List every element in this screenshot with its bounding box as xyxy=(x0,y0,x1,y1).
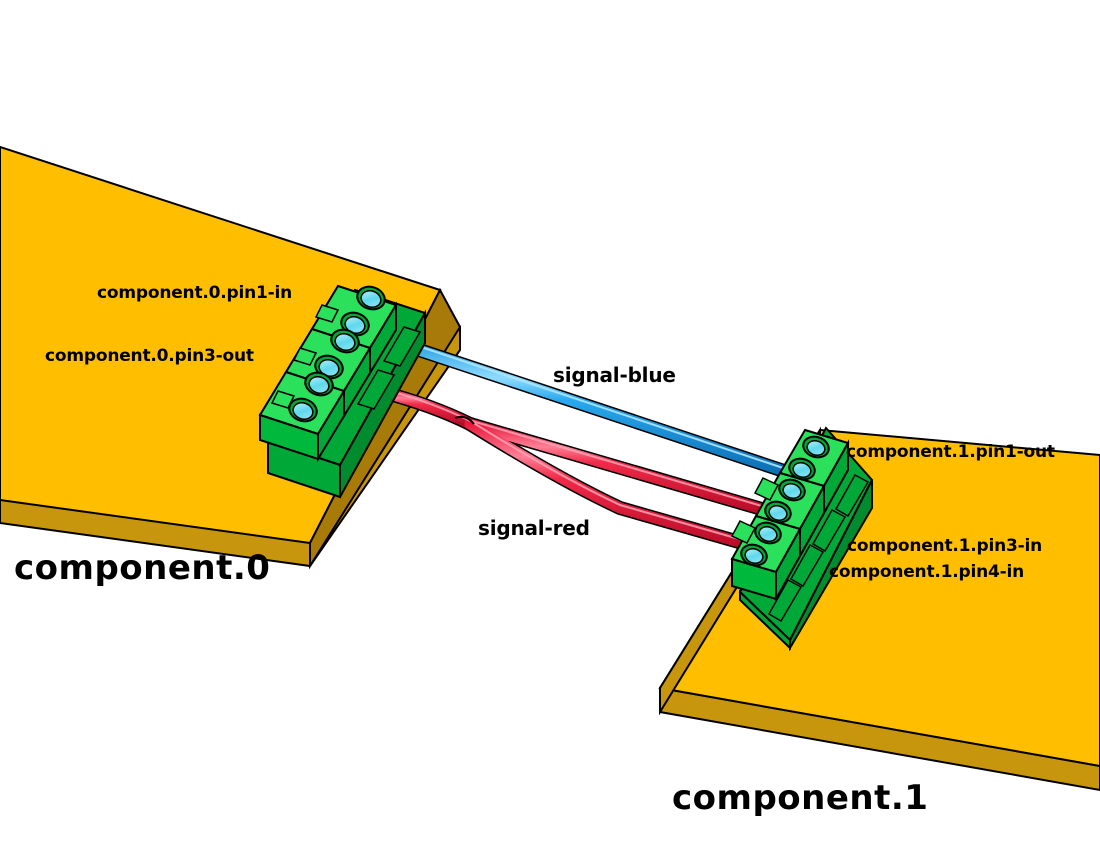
label-component-0-pin1-in: component.0.pin1-in xyxy=(97,285,292,302)
label-signal-red: signal-red xyxy=(478,518,590,538)
label-component-1-pin4-in: component.1.pin4-in xyxy=(829,564,1024,581)
label-component-1: component.1 xyxy=(672,781,928,815)
label-component-0: component.0 xyxy=(14,551,270,585)
label-component-1-pin1-out: component.1.pin1-out xyxy=(846,444,1055,461)
scene-svg xyxy=(0,0,1100,850)
label-signal-blue: signal-blue xyxy=(553,365,676,385)
component-1-board[interactable] xyxy=(660,430,1100,790)
label-component-0-pin3-out: component.0.pin3-out xyxy=(45,348,254,365)
wiring-diagram-canvas: component.0.pin1-in component.0.pin3-out… xyxy=(0,0,1100,850)
label-component-1-pin3-in: component.1.pin3-in xyxy=(847,538,1042,555)
